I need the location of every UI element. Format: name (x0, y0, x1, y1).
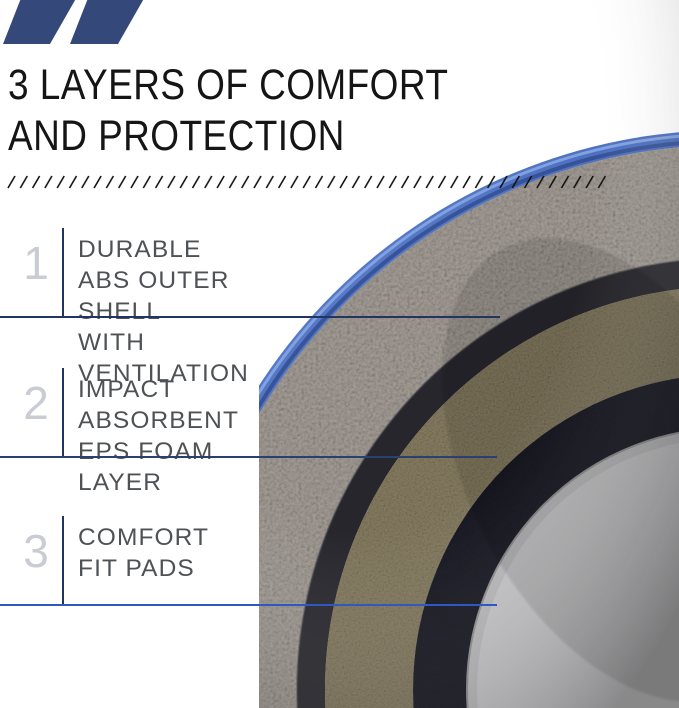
layer-vertical-rule-2 (62, 368, 64, 456)
layer-underline-1 (0, 316, 500, 318)
page-title: 3 LAYERS OF COMFORT AND PROTECTION (8, 60, 490, 162)
layer-vertical-rule-3 (62, 516, 64, 604)
double-slash-icon (0, 0, 180, 46)
layer-label-2: IMPACT ABSORBENT EPS FOAM LAYER (78, 374, 239, 498)
layer-number-1: 1 (14, 240, 58, 286)
layer-number-2: 2 (14, 380, 58, 426)
layer-underline-3 (0, 604, 497, 606)
layer-label-1: DURABLE ABS OUTER SHELL WITH VENTILATION (78, 234, 249, 389)
layer-underline-2 (0, 456, 497, 458)
layer-number-3: 3 (14, 528, 58, 574)
layer-label-3: COMFORT FIT PADS (78, 522, 209, 584)
infographic-canvas: COMPLIES WITH STM CPSC U.S. SAFETY (0, 0, 679, 708)
hatched-divider-icon (6, 172, 608, 192)
layer-vertical-rule-1 (62, 228, 64, 316)
